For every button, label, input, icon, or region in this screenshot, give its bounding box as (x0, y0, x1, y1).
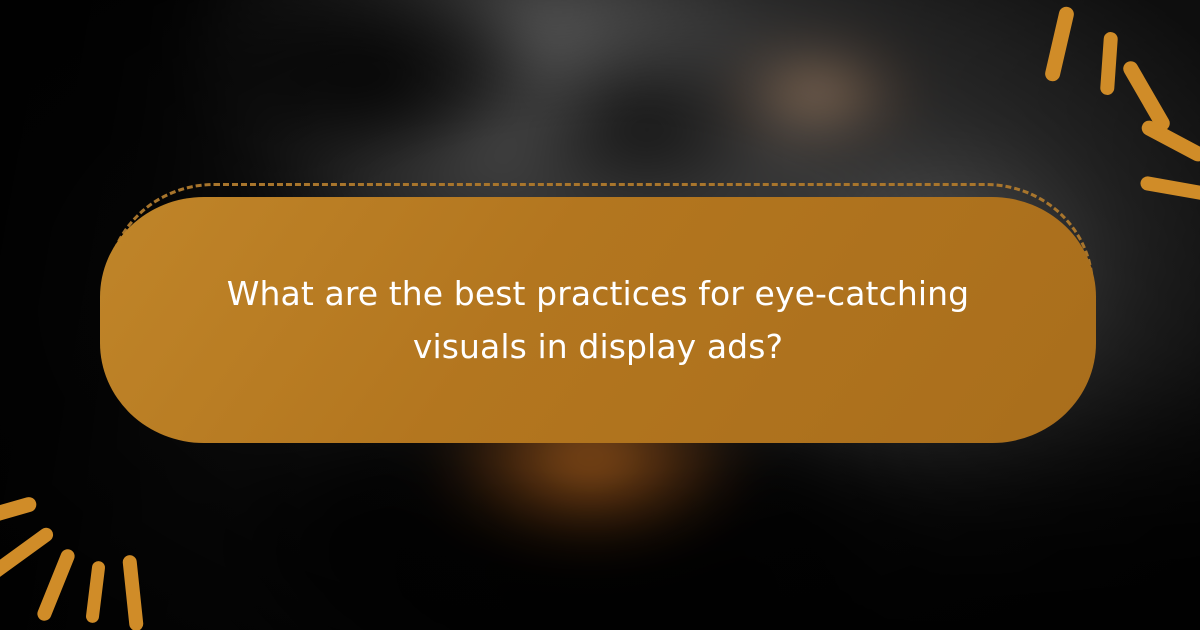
question-text: What are the best practices for eye-catc… (198, 267, 998, 374)
card-surface: What are the best practices for eye-catc… (100, 197, 1096, 443)
starburst-ray-icon (1100, 32, 1118, 96)
starburst-ray-icon (0, 525, 56, 581)
screenshot-canvas: What are the best practices for eye-catc… (0, 0, 1200, 630)
starburst-ray-icon (35, 547, 76, 623)
starburst-ray-icon (1044, 5, 1076, 82)
starburst-bottom-left-icon (0, 455, 200, 630)
starburst-top-right-icon (1030, 0, 1200, 170)
starburst-ray-icon (85, 560, 105, 623)
question-card: What are the best practices for eye-catc… (100, 183, 1100, 449)
starburst-ray-icon (122, 554, 144, 630)
starburst-ray-icon (0, 495, 38, 530)
